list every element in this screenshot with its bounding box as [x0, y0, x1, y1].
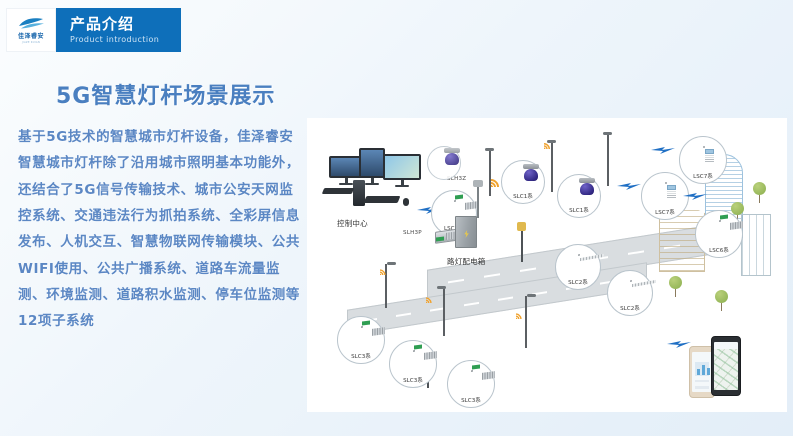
lamp-head-l3	[527, 294, 536, 297]
callout-lsc7-a: LSC7系	[679, 136, 727, 184]
control-center-keyboard-right	[364, 196, 401, 203]
logo-name-cn: 佳泽睿安	[18, 31, 44, 40]
phone-chart-icon	[695, 362, 709, 376]
control-center-monitor-right	[383, 154, 421, 187]
street-pole-u1	[489, 150, 491, 196]
street-pole-l3	[525, 296, 527, 348]
callout-slc1-a: SLC1系	[501, 160, 545, 204]
lamp-head-l1	[387, 262, 396, 265]
label-slh3p: SLH3P	[403, 230, 422, 236]
header-title-bar: 产品介绍 Product introduction	[56, 8, 181, 52]
callout-lsc6: LSC6系	[695, 210, 743, 258]
label-power-cabinet: 路灯配电箱	[447, 256, 486, 267]
page-title: 5G智慧灯杆场景展示	[56, 78, 275, 110]
antenna-pole-icon	[477, 184, 479, 218]
classic-lamp-head-left	[517, 222, 526, 231]
mobile-phone-map	[711, 336, 741, 396]
lamp-head-u1	[485, 148, 494, 151]
callout-slc2-a: SLC2系	[555, 244, 601, 290]
phone-map-icon	[714, 349, 738, 390]
callout-caption: LSC6系	[709, 246, 729, 254]
street-pole-l2	[443, 288, 445, 336]
wifi-signal-icon-l2	[420, 297, 433, 310]
callout-caption: SLC3系	[461, 396, 481, 404]
callout-slc3-a: SLC3系	[337, 316, 385, 364]
callout-slc3-b: SLC3系	[389, 340, 437, 388]
link-bolt-to-lsc7a	[651, 146, 675, 155]
tree-icon-2	[753, 182, 766, 203]
page-header: 佳泽睿安 JIAZE RUIAN 产品介绍 Product introducti…	[6, 8, 181, 52]
tree-icon-4	[715, 290, 728, 311]
callout-caption: LSC7系	[693, 172, 713, 180]
callout-slc1-b: SLC1系	[557, 174, 601, 218]
wifi-signal-icon-l3	[510, 313, 523, 326]
classic-lamp-left	[521, 228, 523, 262]
callout-slc1-extra	[427, 146, 461, 180]
logo-name-en: JIAZE RUIAN	[22, 41, 40, 44]
power-distribution-cabinet	[455, 216, 477, 248]
wave-logo-icon	[16, 16, 46, 30]
callout-caption: LSC7系	[655, 208, 675, 216]
callout-slc2-b: SLC2系	[607, 270, 653, 316]
label-control-center: 控制中心	[337, 218, 368, 229]
callout-caption: SLC1系	[569, 206, 589, 214]
wifi-signal-icon-l1	[374, 269, 387, 282]
callout-caption: SLC2系	[568, 278, 588, 286]
link-bolt-to-phones	[667, 340, 691, 349]
callout-caption: SLC3系	[403, 376, 423, 384]
company-logo: 佳泽睿安 JIAZE RUIAN	[6, 8, 56, 52]
scene-diagram: 控制中心 SLH3P LSCB系 SLH3Z 路灯配电箱 SLC1系	[307, 118, 787, 412]
lamp-head-u3	[603, 132, 612, 135]
callout-caption: SLC1系	[513, 192, 533, 200]
header-title-cn: 产品介绍	[70, 16, 159, 33]
header-title-en: Product introduction	[70, 35, 159, 44]
callout-lsc7-b: LSC7系	[641, 172, 689, 220]
control-center-mouse-icon	[403, 198, 409, 206]
wifi-signal-icon-slh3z	[482, 178, 500, 196]
callout-caption: SLC3系	[351, 352, 371, 360]
description-paragraph: 基于5G技术的智慧城市灯杆设备，佳泽睿安智慧城市灯杆除了沿用城市照明基本功能外，…	[18, 124, 306, 335]
callout-slc3-c: SLC3系	[447, 360, 495, 408]
building-glass-tower	[741, 214, 771, 276]
street-pole-u2	[551, 142, 553, 192]
wifi-signal-icon-upper	[537, 142, 551, 156]
control-center-keyboard-left	[322, 188, 354, 194]
link-bolt-to-lsc7b	[617, 182, 641, 191]
street-pole-u3	[607, 134, 609, 186]
callout-caption: SLC2系	[620, 304, 640, 312]
lamp-head-l2	[437, 286, 446, 289]
link-bolt-to-lsc6	[683, 192, 707, 201]
tree-icon-3	[669, 276, 682, 297]
high-voltage-icon	[463, 230, 470, 238]
